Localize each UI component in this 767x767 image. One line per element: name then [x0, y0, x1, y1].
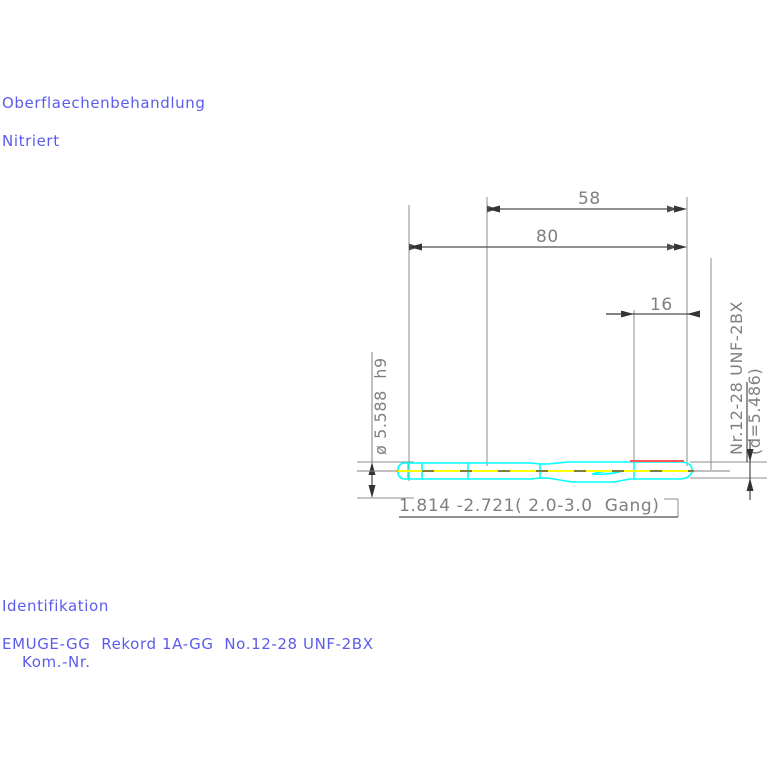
technical-drawing-vectors — [0, 0, 767, 767]
dimension-lines — [372, 209, 750, 500]
dimension-arrowheads — [369, 206, 754, 499]
tap-tool-geometry — [396, 461, 694, 482]
cad-drawing-canvas: Oberflaechenbehandlung Nitriert Identifi… — [0, 0, 767, 767]
